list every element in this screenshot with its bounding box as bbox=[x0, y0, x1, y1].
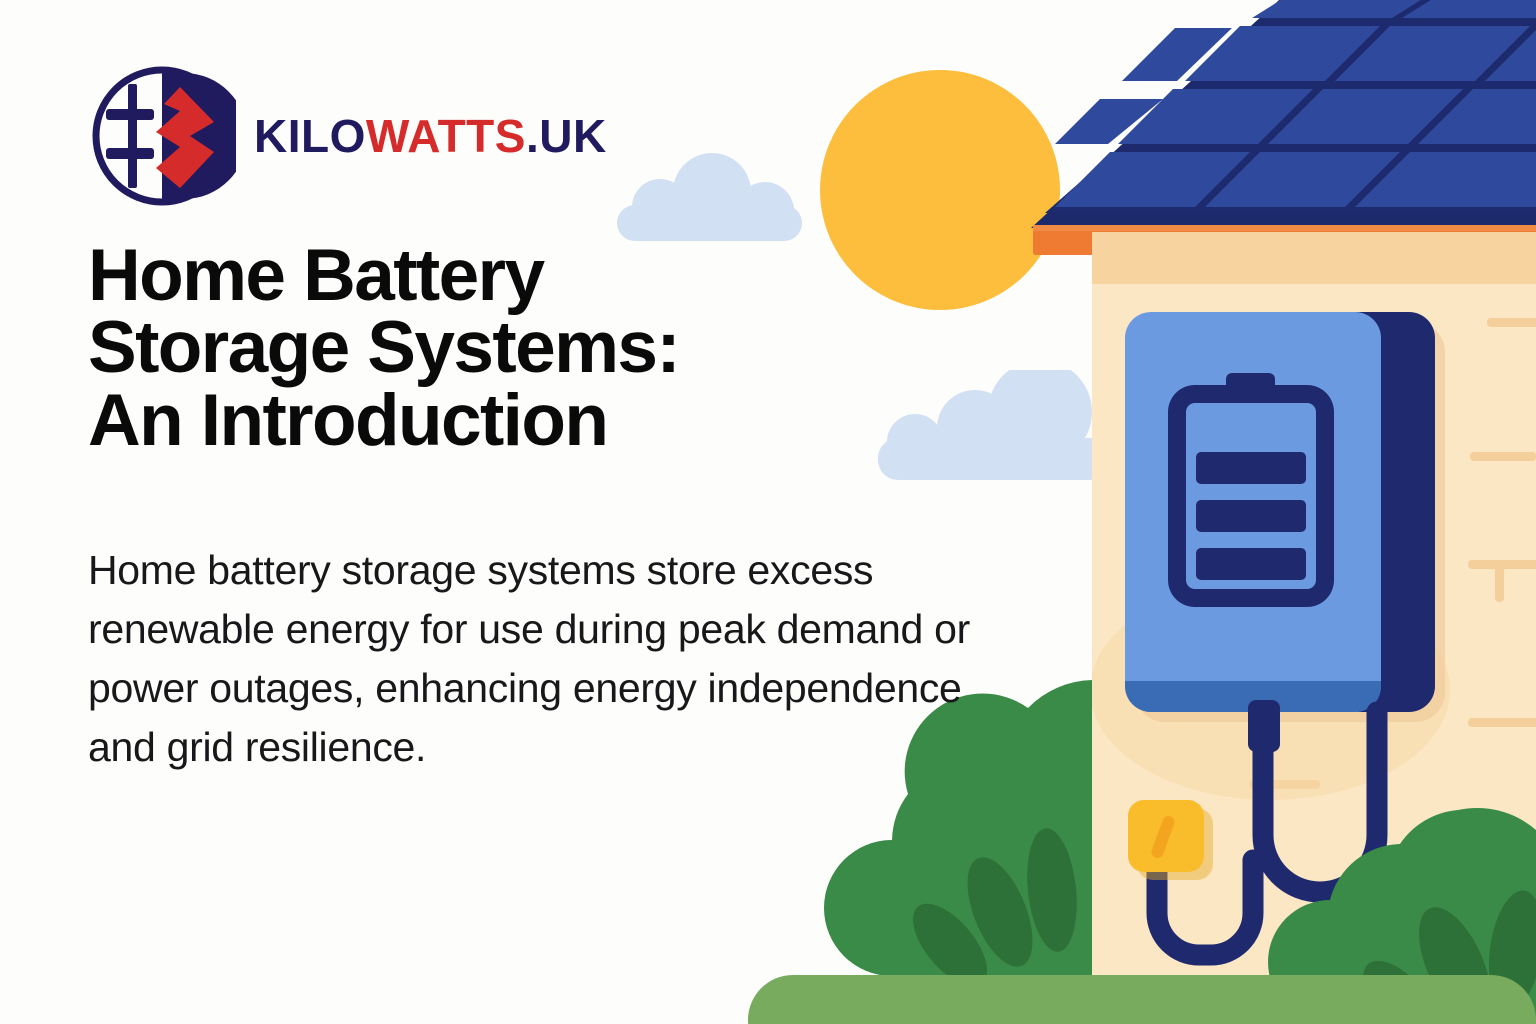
wall-socket-icon bbox=[1128, 800, 1213, 880]
page-description: Home battery storage systems store exces… bbox=[88, 541, 1018, 777]
battery-charge-bar bbox=[1196, 548, 1306, 580]
battery-charge-bar bbox=[1196, 500, 1306, 532]
brand-name-uk: .UK bbox=[526, 110, 607, 162]
poster-canvas: KILOWATTS.UK Home Battery Storage System… bbox=[0, 0, 1536, 1024]
battery-unit-base bbox=[1125, 681, 1381, 712]
battery-unit-side-panel bbox=[1300, 312, 1435, 712]
brand-lockup[interactable]: KILOWATTS.UK bbox=[88, 56, 607, 216]
cable-stub bbox=[1248, 700, 1280, 752]
grass-strip bbox=[748, 975, 1536, 1024]
house-wall bbox=[1092, 232, 1536, 976]
battery-charge-bar bbox=[1196, 452, 1306, 484]
cloud-icon bbox=[878, 360, 1108, 480]
battery-unit-body bbox=[1125, 312, 1381, 712]
roof-edge bbox=[1031, 0, 1536, 228]
bush-icon bbox=[1268, 808, 1536, 1024]
roof-fascia-highlight bbox=[1033, 225, 1536, 231]
shingled-roof-icon bbox=[1045, 0, 1536, 213]
battery-icon bbox=[1168, 373, 1334, 607]
wall-line-details bbox=[1250, 318, 1536, 789]
wall-soft-glow bbox=[1090, 580, 1450, 800]
battery-storage-unit-icon bbox=[1125, 312, 1445, 722]
page-title: Home Battery Storage Systems: An Introdu… bbox=[88, 240, 848, 457]
brand-name-watts: WATTS bbox=[366, 110, 526, 162]
plug-lightning-circle-logo bbox=[88, 62, 236, 210]
brand-name-kilo: KILO bbox=[254, 110, 366, 162]
wall-shadow-band bbox=[1092, 232, 1536, 284]
roof-fascia bbox=[1033, 225, 1536, 255]
bush-leaf-shade bbox=[899, 826, 1082, 999]
sun-icon bbox=[820, 70, 1060, 310]
power-cable-icon bbox=[1157, 712, 1377, 955]
bush-leaf-shade bbox=[1350, 887, 1536, 1024]
brand-wordmark: KILOWATTS.UK bbox=[254, 113, 607, 159]
cloud-icon bbox=[617, 153, 802, 241]
plug-prongs-icon bbox=[106, 84, 154, 188]
socket-slot bbox=[1150, 814, 1176, 859]
